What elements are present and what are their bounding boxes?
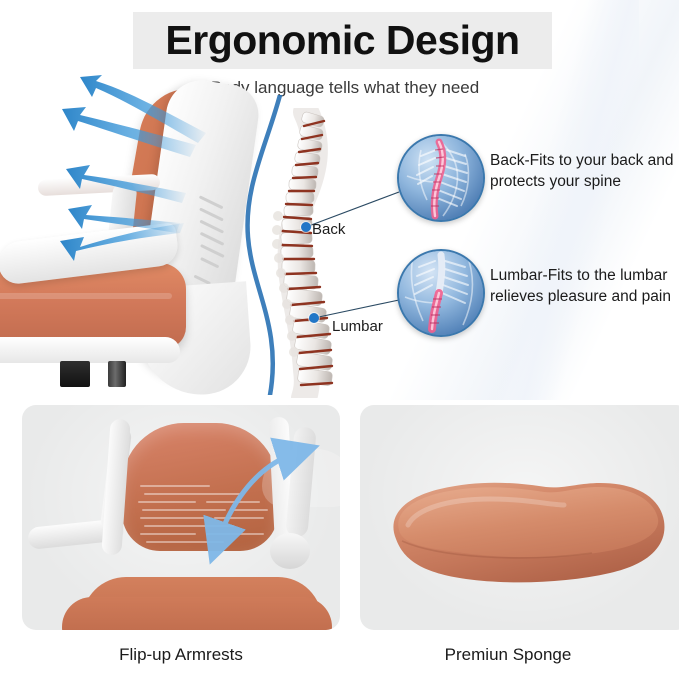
- spine-marker-lumbar-dot: [309, 313, 319, 323]
- feature-panel-flip-up-armrests: [22, 405, 340, 630]
- callout-text-lumbar: Lumbar-Fits to the lumbar relieves pleas…: [490, 266, 679, 308]
- chair-side-profile-image: [0, 85, 260, 400]
- spine-illustration: [258, 108, 368, 398]
- airflow-arrows: [10, 75, 230, 275]
- page-title: Ergonomic Design: [133, 12, 552, 69]
- spine-thoracic-scan-circle-icon: [397, 134, 485, 222]
- armrest-motion-arrow: [22, 405, 340, 630]
- spine-label-lumbar: Lumbar: [332, 318, 383, 335]
- spine-label-back: Back: [312, 221, 345, 238]
- feature-panel-premium-sponge: [360, 405, 679, 630]
- top-section: Ergonomic Design Body language tells wha…: [0, 0, 679, 400]
- chair-seat-base: [0, 337, 180, 363]
- caption-premium-sponge: Premiun Sponge: [360, 645, 656, 665]
- seat-cushion-image: [378, 453, 674, 603]
- chair-gas-cylinder: [108, 361, 126, 387]
- infographic-root: Ergonomic Design Body language tells wha…: [0, 0, 679, 692]
- caption-flip-up-armrests: Flip-up Armrests: [22, 645, 340, 665]
- spine-lumbar-scan-circle-icon: [397, 249, 485, 337]
- chair-mechanism-block: [60, 361, 90, 387]
- spine-marker-back-dot: [301, 222, 311, 232]
- callout-text-back: Back-Fits to your back and protects your…: [490, 151, 679, 193]
